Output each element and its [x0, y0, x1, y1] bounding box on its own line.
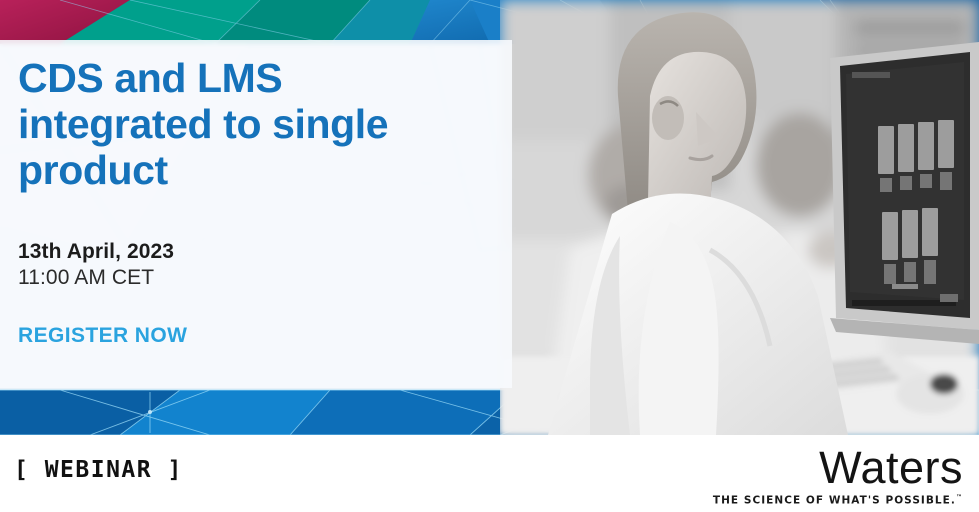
event-date: 13th April, 2023 — [18, 240, 492, 264]
promo-card: CDS and LMS integrated to single product… — [0, 40, 512, 388]
event-time: 11:00 AM CET — [18, 266, 492, 290]
waters-tagline-text: THE SCIENCE OF WHAT'S POSSIBLE. — [713, 495, 956, 507]
trademark-symbol: ™ — [956, 494, 963, 501]
lab-photo — [500, 0, 979, 435]
register-now-link[interactable]: REGISTER NOW — [18, 324, 187, 348]
webinar-tag: [ WEBINAR ] — [14, 457, 183, 483]
footer-bar: [ WEBINAR ] Waters THE SCIENCE OF WHAT'S… — [0, 435, 979, 512]
waters-wordmark: Waters — [713, 445, 963, 490]
page-title: CDS and LMS integrated to single product — [18, 56, 492, 194]
waters-tagline: THE SCIENCE OF WHAT'S POSSIBLE.™ — [713, 494, 963, 507]
webinar-banner: CDS and LMS integrated to single product… — [0, 0, 979, 512]
waters-logo: Waters THE SCIENCE OF WHAT'S POSSIBLE.™ — [713, 445, 963, 507]
